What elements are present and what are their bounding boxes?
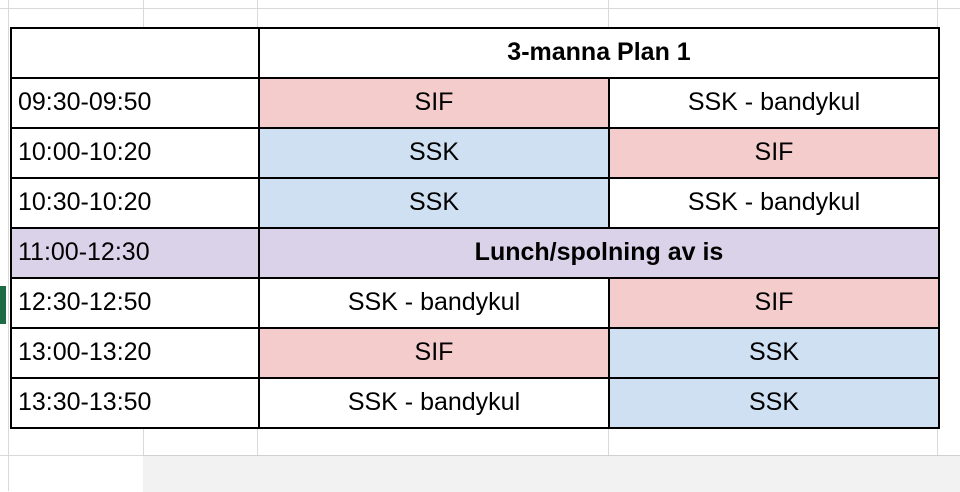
time-cell[interactable]: 10:30-10:20 — [11, 178, 259, 228]
time-cell[interactable]: 10:00-10:20 — [11, 128, 259, 178]
slot-cell-left[interactable]: SSK — [259, 128, 609, 178]
slot-cell-right[interactable]: SSK - bandykul — [609, 178, 939, 228]
table-row: 12:30-12:50 SSK - bandykul SIF — [11, 278, 939, 328]
time-cell[interactable]: 11:00-12:30 — [11, 228, 259, 278]
slot-cell-right[interactable]: SSK — [609, 378, 939, 428]
slot-cell-right[interactable]: SSK — [609, 328, 939, 378]
time-cell[interactable]: 13:30-13:50 — [11, 378, 259, 428]
gridline-horizontal — [0, 8, 960, 9]
table-row: 09:30-09:50 SIF SSK - bandykul — [11, 78, 939, 128]
slot-cell-right[interactable]: SSK - bandykul — [609, 78, 939, 128]
table-row: 13:30-13:50 SSK - bandykul SSK — [11, 378, 939, 428]
slot-cell-left[interactable]: SSK - bandykul — [259, 278, 609, 328]
time-cell[interactable]: 13:00-13:20 — [11, 328, 259, 378]
slot-cell-left[interactable]: SIF — [259, 78, 609, 128]
table-row-lunch: 11:00-12:30 Lunch/spolning av is — [11, 228, 939, 278]
header-corner-cell[interactable] — [11, 28, 259, 78]
table-row: 10:30-10:20 SSK SSK - bandykul — [11, 178, 939, 228]
time-cell[interactable]: 09:30-09:50 — [11, 78, 259, 128]
schedule-title[interactable]: 3-manna Plan 1 — [259, 28, 939, 78]
table-header-row: 3-manna Plan 1 — [11, 28, 939, 78]
row-selection-marker[interactable] — [0, 286, 6, 324]
lunch-cell[interactable]: Lunch/spolning av is — [259, 228, 939, 278]
slot-cell-left[interactable]: SSK - bandykul — [259, 378, 609, 428]
table-row: 13:00-13:20 SIF SSK — [11, 328, 939, 378]
gridline-vertical — [8, 0, 9, 491]
slot-cell-right[interactable]: SIF — [609, 278, 939, 328]
slot-cell-left[interactable]: SIF — [259, 328, 609, 378]
schedule-table-container: 3-manna Plan 1 09:30-09:50 SIF SSK - ban… — [10, 27, 938, 429]
schedule-table: 3-manna Plan 1 09:30-09:50 SIF SSK - ban… — [10, 27, 940, 429]
table-row: 10:00-10:20 SSK SIF — [11, 128, 939, 178]
sheet-bottom-strip — [143, 455, 960, 492]
slot-cell-left[interactable]: SSK — [259, 178, 609, 228]
slot-cell-right[interactable]: SIF — [609, 128, 939, 178]
time-cell[interactable]: 12:30-12:50 — [11, 278, 259, 328]
